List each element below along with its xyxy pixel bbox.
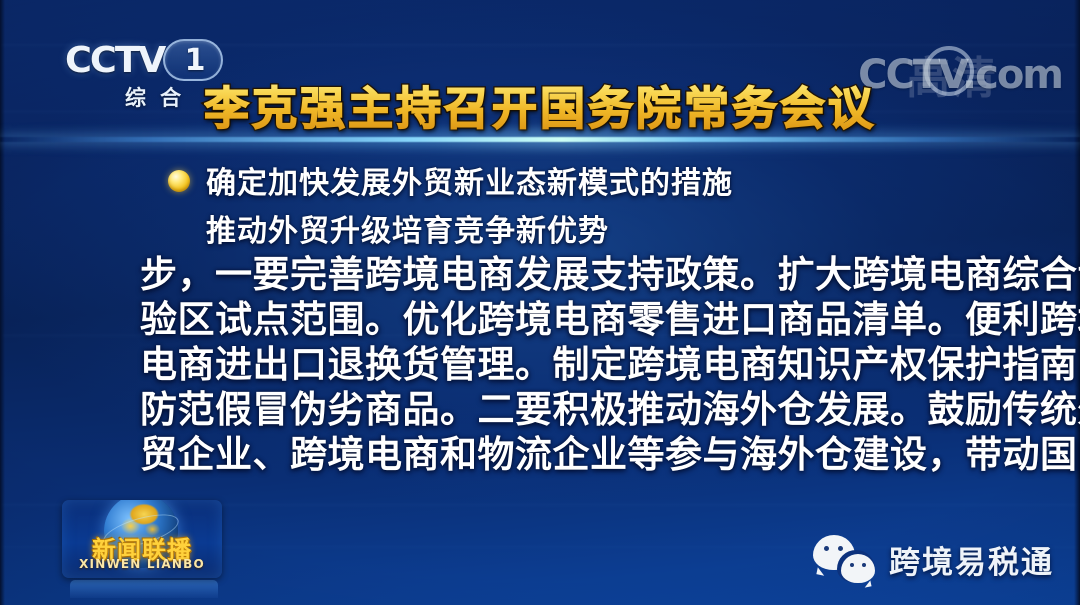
body-line: 贸企业、跨境电商和物流企业等参与海外仓建设，带动国内 <box>140 432 950 477</box>
wechat-eye <box>824 546 829 551</box>
program-logo: 新闻联播 XINWEN LIANBO <box>62 500 222 578</box>
program-name-en: XINWEN LIANBO <box>70 557 214 571</box>
wechat-eye <box>850 563 854 567</box>
bullet-dot-icon <box>168 170 190 192</box>
headline-text: 李克强主持召开国务院常务会议 <box>204 72 876 137</box>
broadcast-screen: CCTV 1 综合 高清 CCTV.com 李克强主持召开国务院常务会议 李克强… <box>0 0 1080 605</box>
wechat-bubble-small <box>841 554 875 583</box>
headline-fill: 李克强主持召开国务院常务会议 <box>0 72 1080 137</box>
headline-wrap: 李克强主持召开国务院常务会议 李克强主持召开国务院常务会议 <box>0 72 1080 130</box>
bullet-spacer <box>168 218 190 240</box>
wechat-account-name: 跨境易税通 <box>889 537 1054 582</box>
bullet-text: 推动外贸升级培育竞争新优势 <box>206 211 609 253</box>
body-line: 防范假冒伪劣商品。二要积极推动海外仓发展。鼓励传统外 <box>140 387 950 432</box>
body-text: 步，一要完善跨境电商发展支持政策。扩大跨境电商综合试 验区试点范围。优化跨境电商… <box>140 252 950 477</box>
subtitle-bullets: 确定加快发展外贸新业态新模式的措施 推动外贸升级培育竞争新优势 <box>168 163 968 259</box>
divider-line <box>0 137 1080 142</box>
bullet-item: 确定加快发展外贸新业态新模式的措施 <box>168 163 968 205</box>
body-line: 验区试点范围。优化跨境电商零售进口商品清单。便利跨境 <box>140 297 950 342</box>
bullet-text: 确定加快发展外贸新业态新模式的措施 <box>206 163 733 205</box>
wechat-icon <box>813 535 875 583</box>
wechat-watermark: 跨境易税通 <box>813 535 1054 583</box>
program-logo-shelf <box>70 580 218 598</box>
bullet-item: 推动外贸升级培育竞争新优势 <box>168 211 968 253</box>
headline: 李克强主持召开国务院常务会议 李克强主持召开国务院常务会议 <box>0 72 1080 130</box>
body-line: 电商进出口退换货管理。制定跨境电商知识产权保护指南， <box>140 342 950 387</box>
wechat-eye <box>838 546 843 551</box>
wechat-eye <box>862 563 866 567</box>
body-line: 步，一要完善跨境电商发展支持政策。扩大跨境电商综合试 <box>140 252 950 297</box>
